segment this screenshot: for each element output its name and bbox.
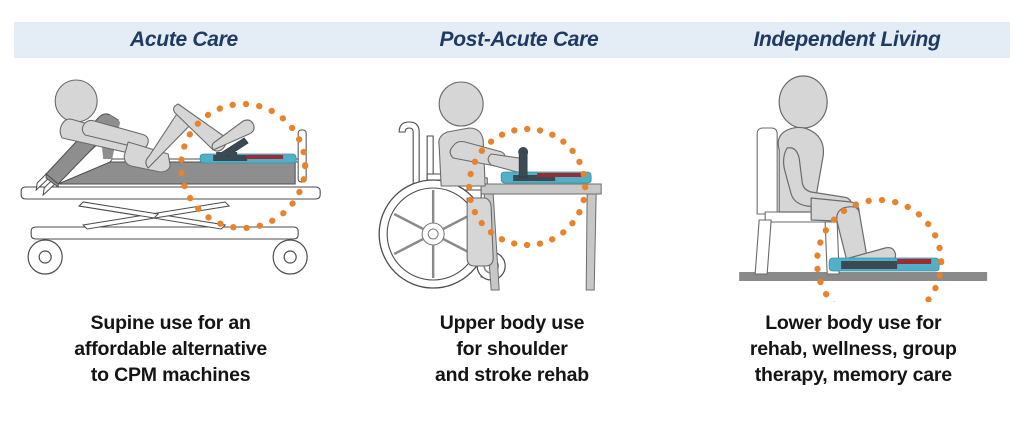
- device-track: [213, 155, 247, 161]
- panel-independent-living: Lower body use for rehab, wellness, grou…: [683, 62, 1024, 425]
- header-band: Acute Care Post-Acute Care Independent L…: [14, 22, 1010, 58]
- floor-line: [739, 272, 987, 281]
- caption-line: affordable alternative: [0, 336, 341, 362]
- illustration-acute-care: [0, 62, 341, 302]
- header-label-acute-care: Acute Care: [130, 28, 238, 52]
- patient-head: [55, 80, 97, 122]
- patient-head: [439, 82, 483, 126]
- device-accent-strip: [897, 259, 931, 264]
- caption-line: for shoulder: [341, 336, 682, 362]
- caption-line: to CPM machines: [0, 362, 341, 388]
- header-column-post-acute-care: Post-Acute Care: [354, 22, 684, 58]
- panel-acute-care: Supine use for an affordable alternative…: [0, 62, 341, 425]
- caption-line: rehab, wellness, group: [683, 336, 1024, 362]
- panel-row: Supine use for an affordable alternative…: [0, 62, 1024, 425]
- device-accent-strip: [537, 173, 581, 177]
- header-column-acute-care: Acute Care: [14, 22, 354, 58]
- caption-line: and stroke rehab: [341, 362, 682, 388]
- caption-line: Upper body use: [341, 310, 682, 336]
- device-accent-strip: [246, 155, 283, 159]
- panel-post-acute-care: Upper body use for shoulder and stroke r…: [341, 62, 682, 425]
- caption-line: Supine use for an: [0, 310, 341, 336]
- table-leg-back: [586, 194, 596, 290]
- rehab-device-independent: [829, 258, 939, 271]
- header-column-independent-living: Independent Living: [684, 22, 1010, 58]
- seated-chair-illustration: [683, 62, 1024, 302]
- illustration-independent-living: [683, 62, 1024, 302]
- header-label-post-acute-care: Post-Acute Care: [440, 28, 599, 52]
- illustration-post-acute-care: [341, 62, 682, 302]
- hospital-bed-illustration: [0, 62, 341, 302]
- caption-line: Lower body use for: [683, 310, 1024, 336]
- caption-line: therapy, memory care: [683, 362, 1024, 388]
- wheelchair-illustration: [341, 62, 682, 302]
- device-carriage-base: [216, 152, 237, 155]
- header-label-independent-living: Independent Living: [753, 28, 940, 52]
- caption-post-acute-care: Upper body use for shoulder and stroke r…: [341, 310, 682, 388]
- device-track: [841, 261, 897, 269]
- device-handle-post: [519, 154, 527, 177]
- patient-head: [779, 76, 827, 128]
- infographic-page: Acute Care Post-Acute Care Independent L…: [0, 0, 1024, 425]
- caption-acute-care: Supine use for an affordable alternative…: [0, 310, 341, 388]
- chair-leg-back: [755, 220, 771, 274]
- bed-wheel-right: [273, 240, 307, 274]
- bed-wheel-left: [28, 240, 62, 274]
- caption-independent-living: Lower body use for rehab, wellness, grou…: [683, 310, 1024, 388]
- chair-backrest: [757, 128, 777, 214]
- device-handle-knob: [518, 147, 528, 157]
